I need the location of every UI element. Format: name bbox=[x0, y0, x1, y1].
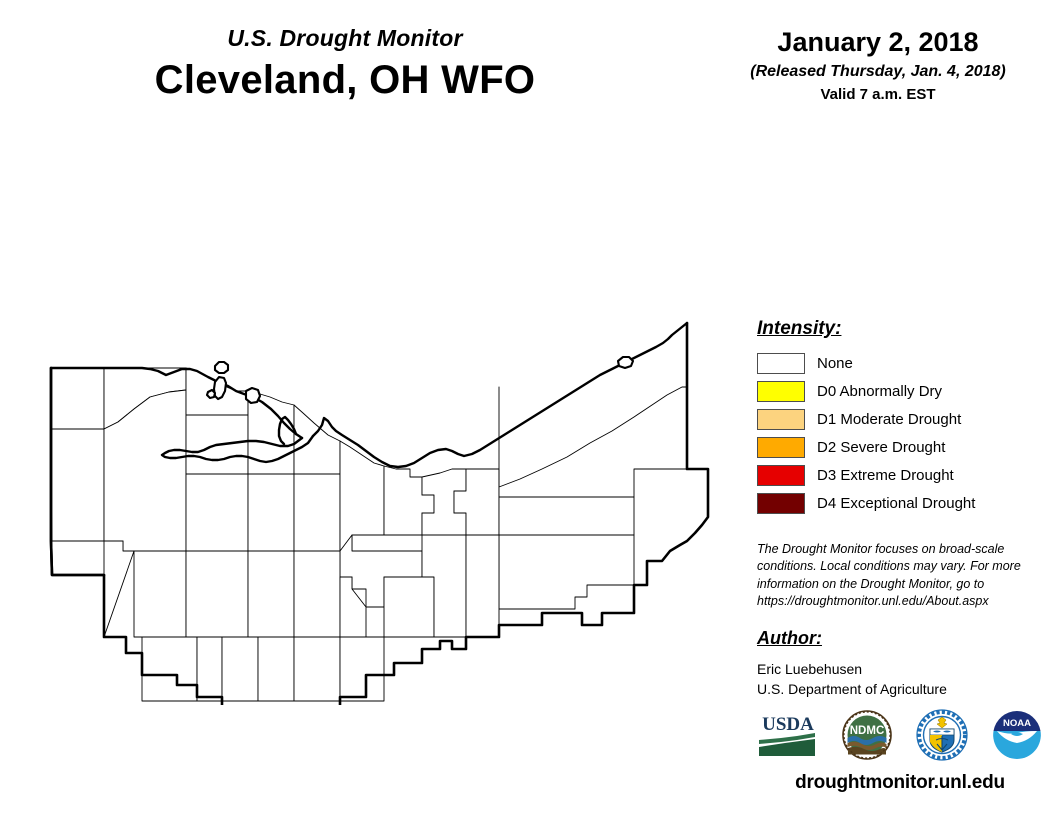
legend-swatch-d4 bbox=[757, 493, 805, 514]
legend-item-d3[interactable]: D3 Extreme Drought bbox=[757, 461, 1047, 489]
unl-seal-logo[interactable] bbox=[916, 709, 968, 761]
county-warning-area-map[interactable] bbox=[22, 245, 738, 705]
legend: Intensity: None D0 Abnormally Dry D1 Mod… bbox=[757, 318, 1047, 517]
ndmc-logo[interactable]: NDMC bbox=[842, 710, 892, 760]
legend-item-d0[interactable]: D0 Abnormally Dry bbox=[757, 377, 1047, 405]
site-url[interactable]: droughtmonitor.unl.edu bbox=[757, 772, 1043, 794]
author-affiliation: U.S. Department of Agriculture bbox=[757, 679, 1037, 699]
svg-text:NDMC: NDMC bbox=[850, 725, 885, 737]
legend-label-d0: D0 Abnormally Dry bbox=[817, 384, 942, 399]
legend-label-d4: D4 Exceptional Drought bbox=[817, 496, 975, 511]
disclaimer-text: The Drought Monitor focuses on broad-sca… bbox=[757, 541, 1025, 610]
author-name: Eric Luebehusen bbox=[757, 659, 1037, 679]
drought-monitor-supertitle: U.S. Drought Monitor bbox=[0, 26, 690, 51]
legend-item-d4[interactable]: D4 Exceptional Drought bbox=[757, 489, 1047, 517]
page-title: Cleveland, OH WFO bbox=[0, 57, 690, 103]
svg-text:USDA: USDA bbox=[762, 714, 814, 735]
usda-logo[interactable]: USDA bbox=[757, 711, 819, 759]
map-date: January 2, 2018 bbox=[708, 28, 1048, 58]
noaa-logo[interactable]: NOAA bbox=[991, 709, 1043, 761]
release-date: (Released Thursday, Jan. 4, 2018) bbox=[708, 63, 1048, 81]
legend-item-none[interactable]: None bbox=[757, 349, 1047, 377]
county-layer bbox=[51, 368, 687, 701]
author-heading: Author: bbox=[757, 628, 1037, 649]
header-left-title-block: U.S. Drought Monitor Cleveland, OH WFO bbox=[0, 26, 690, 103]
drought-map[interactable] bbox=[22, 245, 738, 705]
shoreline-notch bbox=[618, 357, 633, 368]
valid-time: Valid 7 a.m. EST bbox=[708, 86, 1048, 103]
legend-title: Intensity: bbox=[757, 318, 1047, 340]
legend-label-d1: D1 Moderate Drought bbox=[817, 412, 961, 427]
legend-swatch-none bbox=[757, 353, 805, 374]
legend-swatch-d3 bbox=[757, 465, 805, 486]
legend-swatch-d1 bbox=[757, 409, 805, 430]
legend-label-none: None bbox=[817, 356, 853, 371]
svg-text:NOAA: NOAA bbox=[1003, 718, 1031, 729]
legend-swatch-d2 bbox=[757, 437, 805, 458]
legend-item-d1[interactable]: D1 Moderate Drought bbox=[757, 405, 1047, 433]
author-block: Author: Eric Luebehusen U.S. Department … bbox=[757, 628, 1037, 700]
legend-item-d2[interactable]: D2 Severe Drought bbox=[757, 433, 1047, 461]
legend-label-d2: D2 Severe Drought bbox=[817, 440, 945, 455]
legend-swatch-d0 bbox=[757, 381, 805, 402]
legend-label-d3: D3 Extreme Drought bbox=[817, 468, 954, 483]
partner-logos: USDA NDMC NOAA bbox=[757, 706, 1043, 764]
header-right-date-block: January 2, 2018 (Released Thursday, Jan.… bbox=[708, 28, 1048, 103]
